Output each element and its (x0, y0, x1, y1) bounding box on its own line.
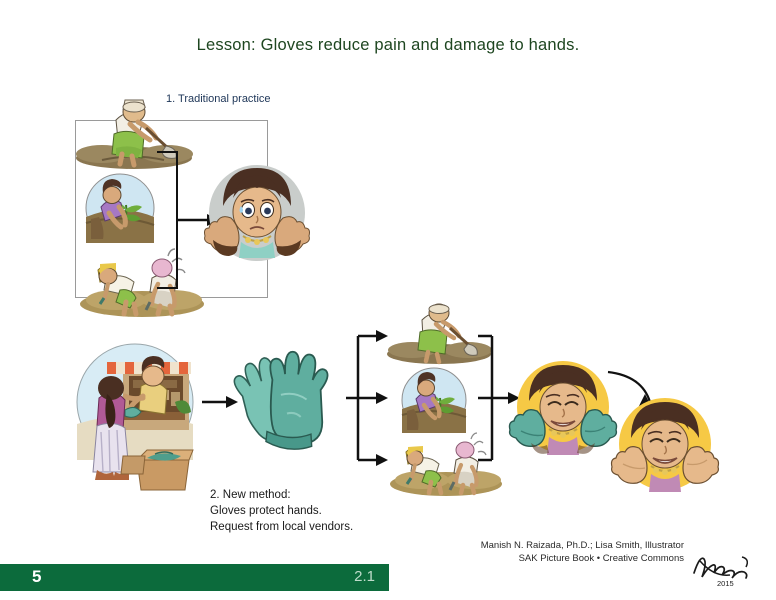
happy-clean-hands-illustration (613, 392, 717, 496)
page-title: Lesson: Gloves reduce pain and damage to… (0, 36, 776, 55)
new-method-line-3: Request from local vendors. (210, 519, 353, 535)
new-method-label: 2. New method: Gloves protect hands. Req… (210, 487, 353, 535)
section-number: 2.1 (354, 568, 375, 585)
planting-circle-top-illustration (85, 173, 155, 243)
sad-dirty-hands-illustration (205, 158, 309, 268)
signature-year: 2015 (717, 579, 734, 588)
credit-line-authors: Manish N. Raizada, Ph.D.; Lisa Smith, Il… (481, 539, 684, 552)
footer-bar: 5 2.1 (0, 564, 389, 591)
happy-gloved-hands-illustration (511, 355, 615, 459)
vendor-shop-illustration (63, 340, 203, 495)
illustrator-signature: 2015 (690, 551, 762, 589)
picture-book-page: Lesson: Gloves reduce pain and damage to… (0, 0, 776, 600)
new-method-line-2: Gloves protect hands. (210, 503, 353, 519)
new-method-line-1: 2. New method: (210, 487, 353, 503)
gloves-illustration (222, 338, 342, 462)
credits: Manish N. Raizada, Ph.D.; Lisa Smith, Il… (481, 539, 684, 565)
page-number: 5 (32, 567, 41, 587)
credit-line-license: SAK Picture Book • Creative Commons (481, 552, 684, 565)
planting-circle-bottom-illustration (401, 367, 467, 433)
